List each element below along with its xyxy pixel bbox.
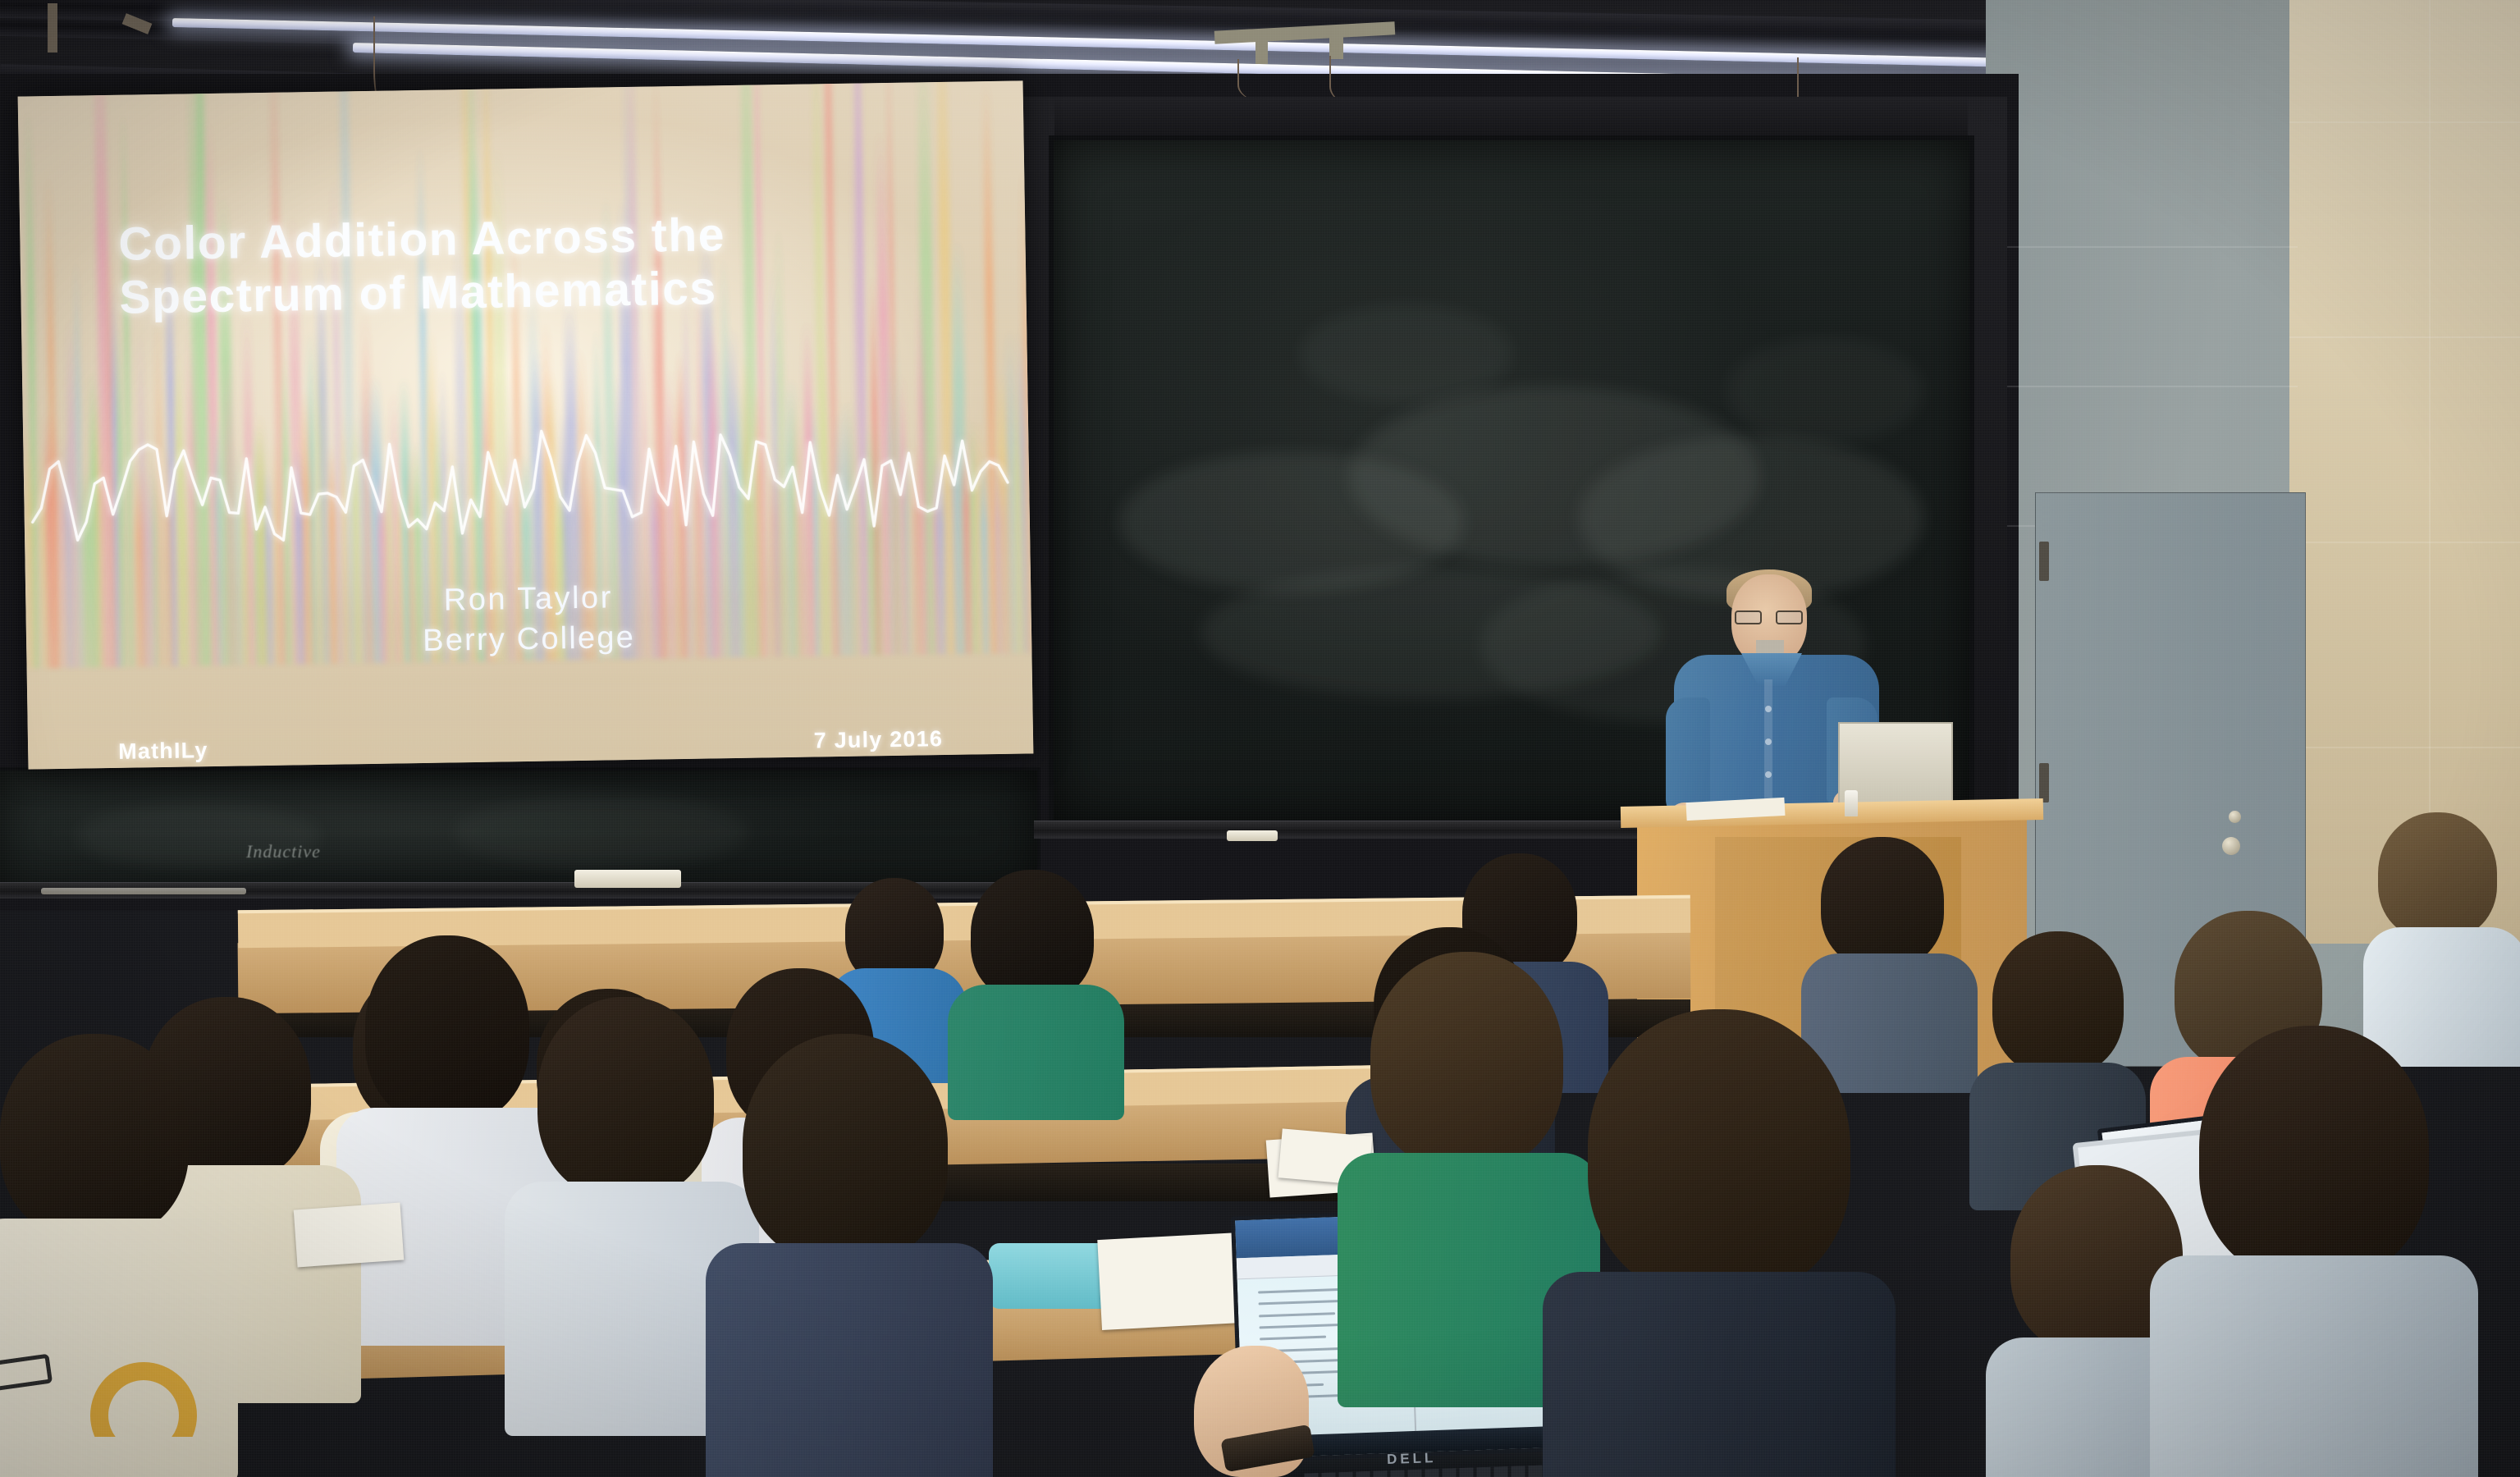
door-hinge-bottom xyxy=(2039,763,2049,803)
block-mortar-h3 xyxy=(2289,542,2520,543)
student-front-5 xyxy=(706,1034,993,1477)
door-deadbolt-icon[interactable] xyxy=(2229,811,2241,823)
lecture-hall-scene: Inductive Color Addition Across the Spec… xyxy=(0,0,2520,1477)
projection-screen: Color Addition Across the Spectrum of Ma… xyxy=(18,80,1034,769)
block-mortar-h2 xyxy=(2289,336,2520,338)
ceiling-hook-left xyxy=(48,3,57,53)
student-front-7 xyxy=(1543,1009,1896,1477)
pencil-case[interactable] xyxy=(989,1243,1112,1309)
ceiling-bracket-post xyxy=(1329,28,1343,59)
door-hinge-top xyxy=(2039,542,2049,581)
slide-footer-left: MathILy xyxy=(118,738,208,765)
laptop-brand-logo: DELL xyxy=(1387,1450,1437,1468)
block-mortar-h4 xyxy=(2289,747,2520,748)
door-knob-icon[interactable] xyxy=(2222,837,2240,855)
eraser-left[interactable] xyxy=(41,888,246,894)
cream-block-wall xyxy=(2289,0,2520,944)
notepad-left[interactable] xyxy=(294,1203,405,1268)
chalkboard-writing: Inductive xyxy=(246,841,321,862)
chalk-piece-center[interactable] xyxy=(1227,830,1278,841)
wall-mortar-2 xyxy=(1986,386,2298,387)
wall-mortar-1 xyxy=(1986,246,2298,248)
student-back-5 xyxy=(2363,812,2520,1026)
block-mortar-v1 xyxy=(2429,0,2431,944)
hanging-wire-1 xyxy=(1237,59,1303,102)
student-front-8 xyxy=(2150,1026,2478,1477)
presenter-glasses-icon xyxy=(1735,610,1804,624)
chalk-piece-left[interactable] xyxy=(574,870,681,888)
slide-title: Color Addition Across the Spectrum of Ma… xyxy=(118,205,949,325)
water-bottle xyxy=(1845,790,1858,816)
slide-author-block: Ron Taylor Berry College xyxy=(25,571,1031,666)
slide-footer-right: 7 July 2016 xyxy=(814,726,944,753)
block-mortar-h1 xyxy=(2289,121,2520,123)
